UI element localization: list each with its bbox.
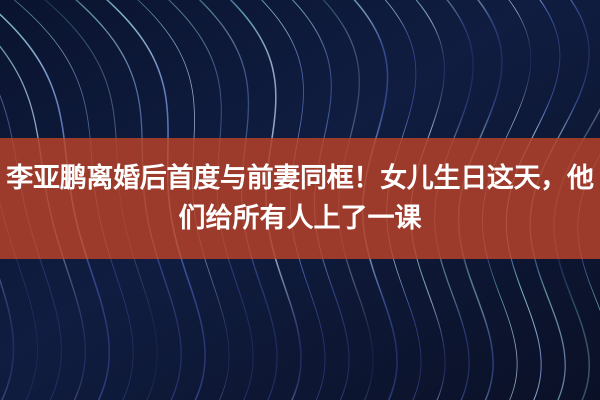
headline-line-2: 们给所有人上了一课	[179, 199, 422, 239]
headline-line-1: 李亚鹏离婚后首度与前妻同框！女儿生日这天，他	[6, 159, 593, 199]
headline-text-block: 李亚鹏离婚后首度与前妻同框！女儿生日这天，他 们给所有人上了一课	[0, 138, 600, 259]
news-banner-image: 李亚鹏离婚后首度与前妻同框！女儿生日这天，他 们给所有人上了一课	[0, 0, 600, 400]
